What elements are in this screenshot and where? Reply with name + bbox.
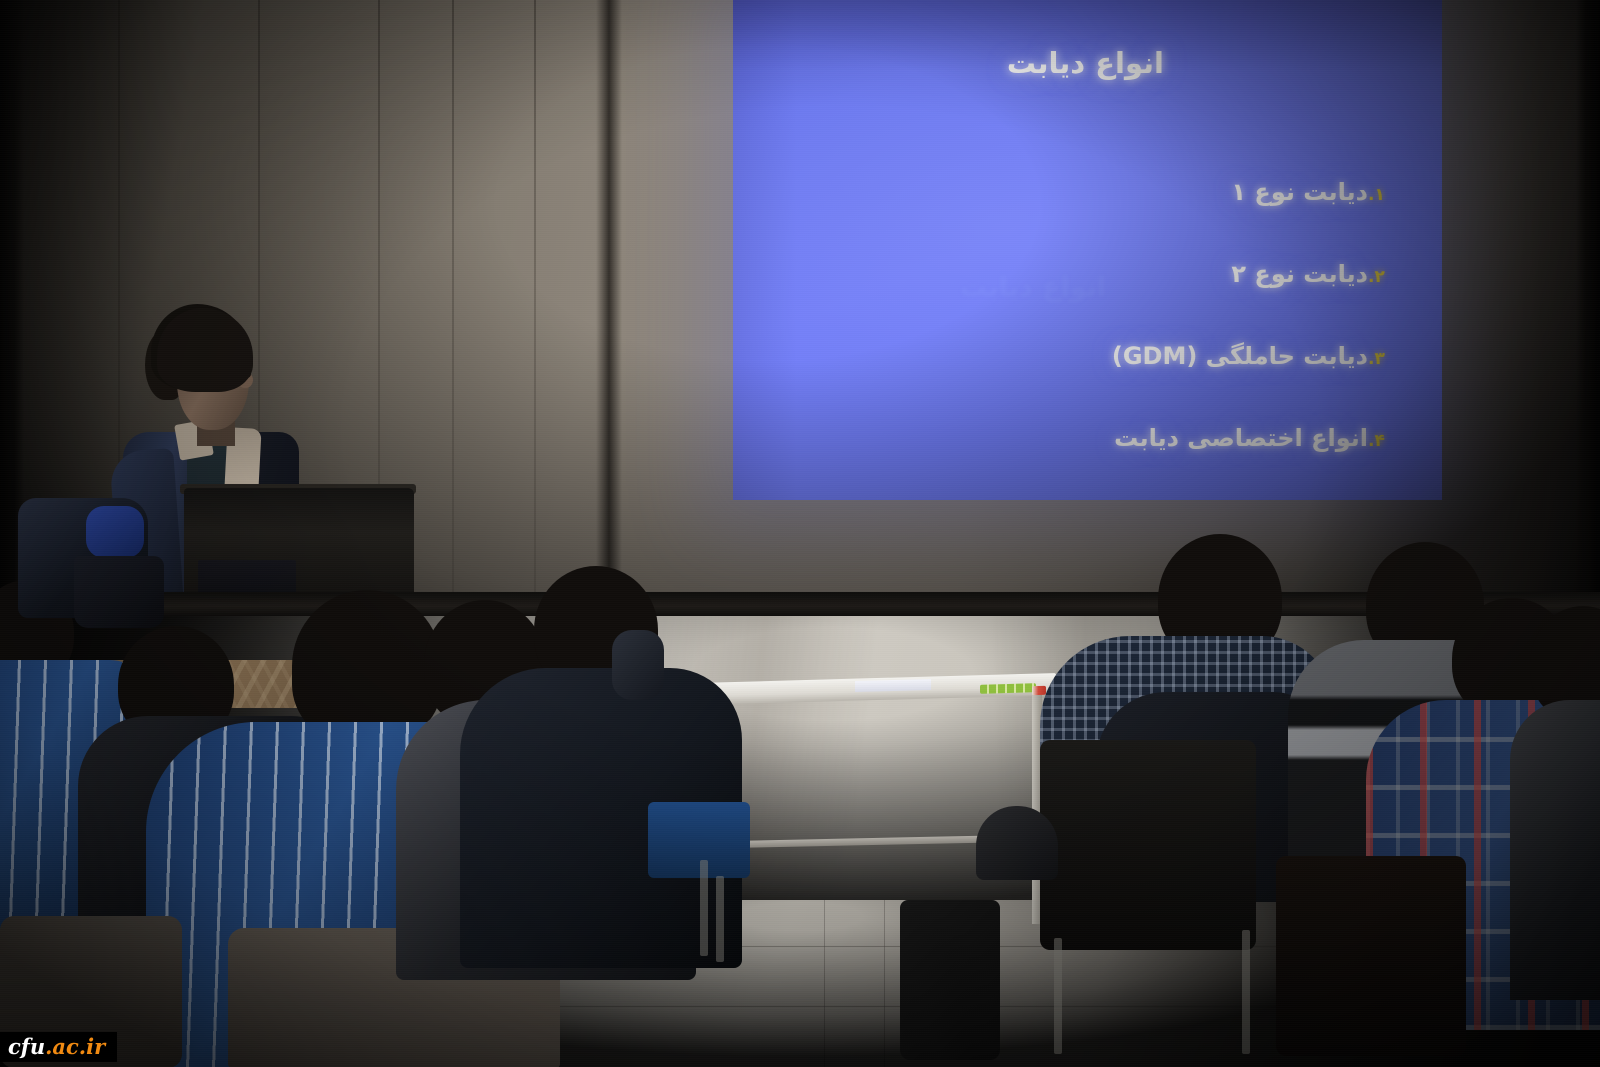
presenter-hair	[157, 308, 253, 392]
site-watermark: cfu.ac.ir	[0, 1032, 117, 1062]
green-marker-pack	[980, 683, 1036, 694]
student-arm	[612, 630, 664, 700]
chair-frame	[1242, 930, 1250, 1054]
chair-back	[1276, 856, 1466, 1056]
chair-frame	[700, 860, 708, 956]
chair-frame	[1054, 938, 1062, 1054]
watermark-part-2: .ac.ir	[45, 1034, 105, 1059]
paper-sheet	[855, 679, 931, 692]
student-torso	[1510, 700, 1600, 1000]
chair-back	[1040, 740, 1256, 950]
red-marker	[1032, 686, 1046, 695]
student-bag	[976, 806, 1058, 880]
chair-back-blue	[648, 802, 750, 878]
watermark-part-1: cfu	[8, 1034, 45, 1059]
student-head	[292, 590, 442, 742]
bag-strap	[74, 556, 164, 628]
backpack-blue-pocket	[86, 506, 144, 558]
chair-frame	[716, 876, 724, 962]
floor-bag	[900, 900, 1000, 1060]
wall-skirting-band	[0, 592, 1600, 618]
lecture-hall-photo: انواع دیابت انواع دیابت ۱. دیابت نوع ۱ ۲…	[0, 0, 1600, 1067]
